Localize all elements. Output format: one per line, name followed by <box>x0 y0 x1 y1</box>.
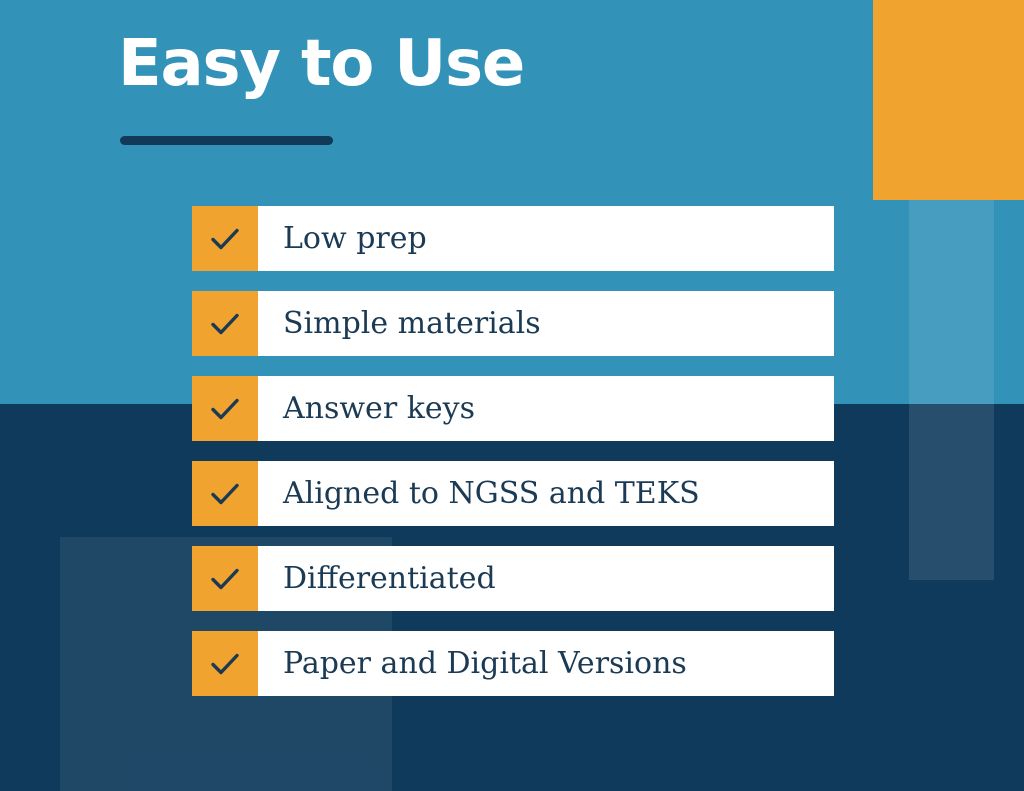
check-icon <box>192 631 258 696</box>
list-item[interactable]: Answer keys <box>192 376 834 441</box>
check-icon <box>192 461 258 526</box>
check-icon <box>192 291 258 356</box>
list-item[interactable]: Simple materials <box>192 291 834 356</box>
check-icon <box>192 376 258 441</box>
list-item[interactable]: Aligned to NGSS and TEKS <box>192 461 834 526</box>
feature-checklist: Low prep Simple materials Answer keys <box>192 206 834 696</box>
list-item-label: Differentiated <box>258 546 834 611</box>
page-title: Easy to Use <box>118 32 524 96</box>
title-underline-rule <box>120 136 333 145</box>
background-right-blue-block <box>909 200 994 580</box>
list-item-label: Answer keys <box>258 376 834 441</box>
check-icon <box>192 546 258 611</box>
list-item-label: Aligned to NGSS and TEKS <box>258 461 834 526</box>
check-icon <box>192 206 258 271</box>
slide-canvas: Easy to Use Low prep Simple materials <box>0 0 1024 791</box>
list-item-label: Paper and Digital Versions <box>258 631 834 696</box>
list-item[interactable]: Differentiated <box>192 546 834 611</box>
list-item-label: Low prep <box>258 206 834 271</box>
list-item[interactable]: Low prep <box>192 206 834 271</box>
title-block: Easy to Use <box>118 32 524 96</box>
list-item-label: Simple materials <box>258 291 834 356</box>
background-orange-block <box>873 0 1024 200</box>
list-item[interactable]: Paper and Digital Versions <box>192 631 834 696</box>
